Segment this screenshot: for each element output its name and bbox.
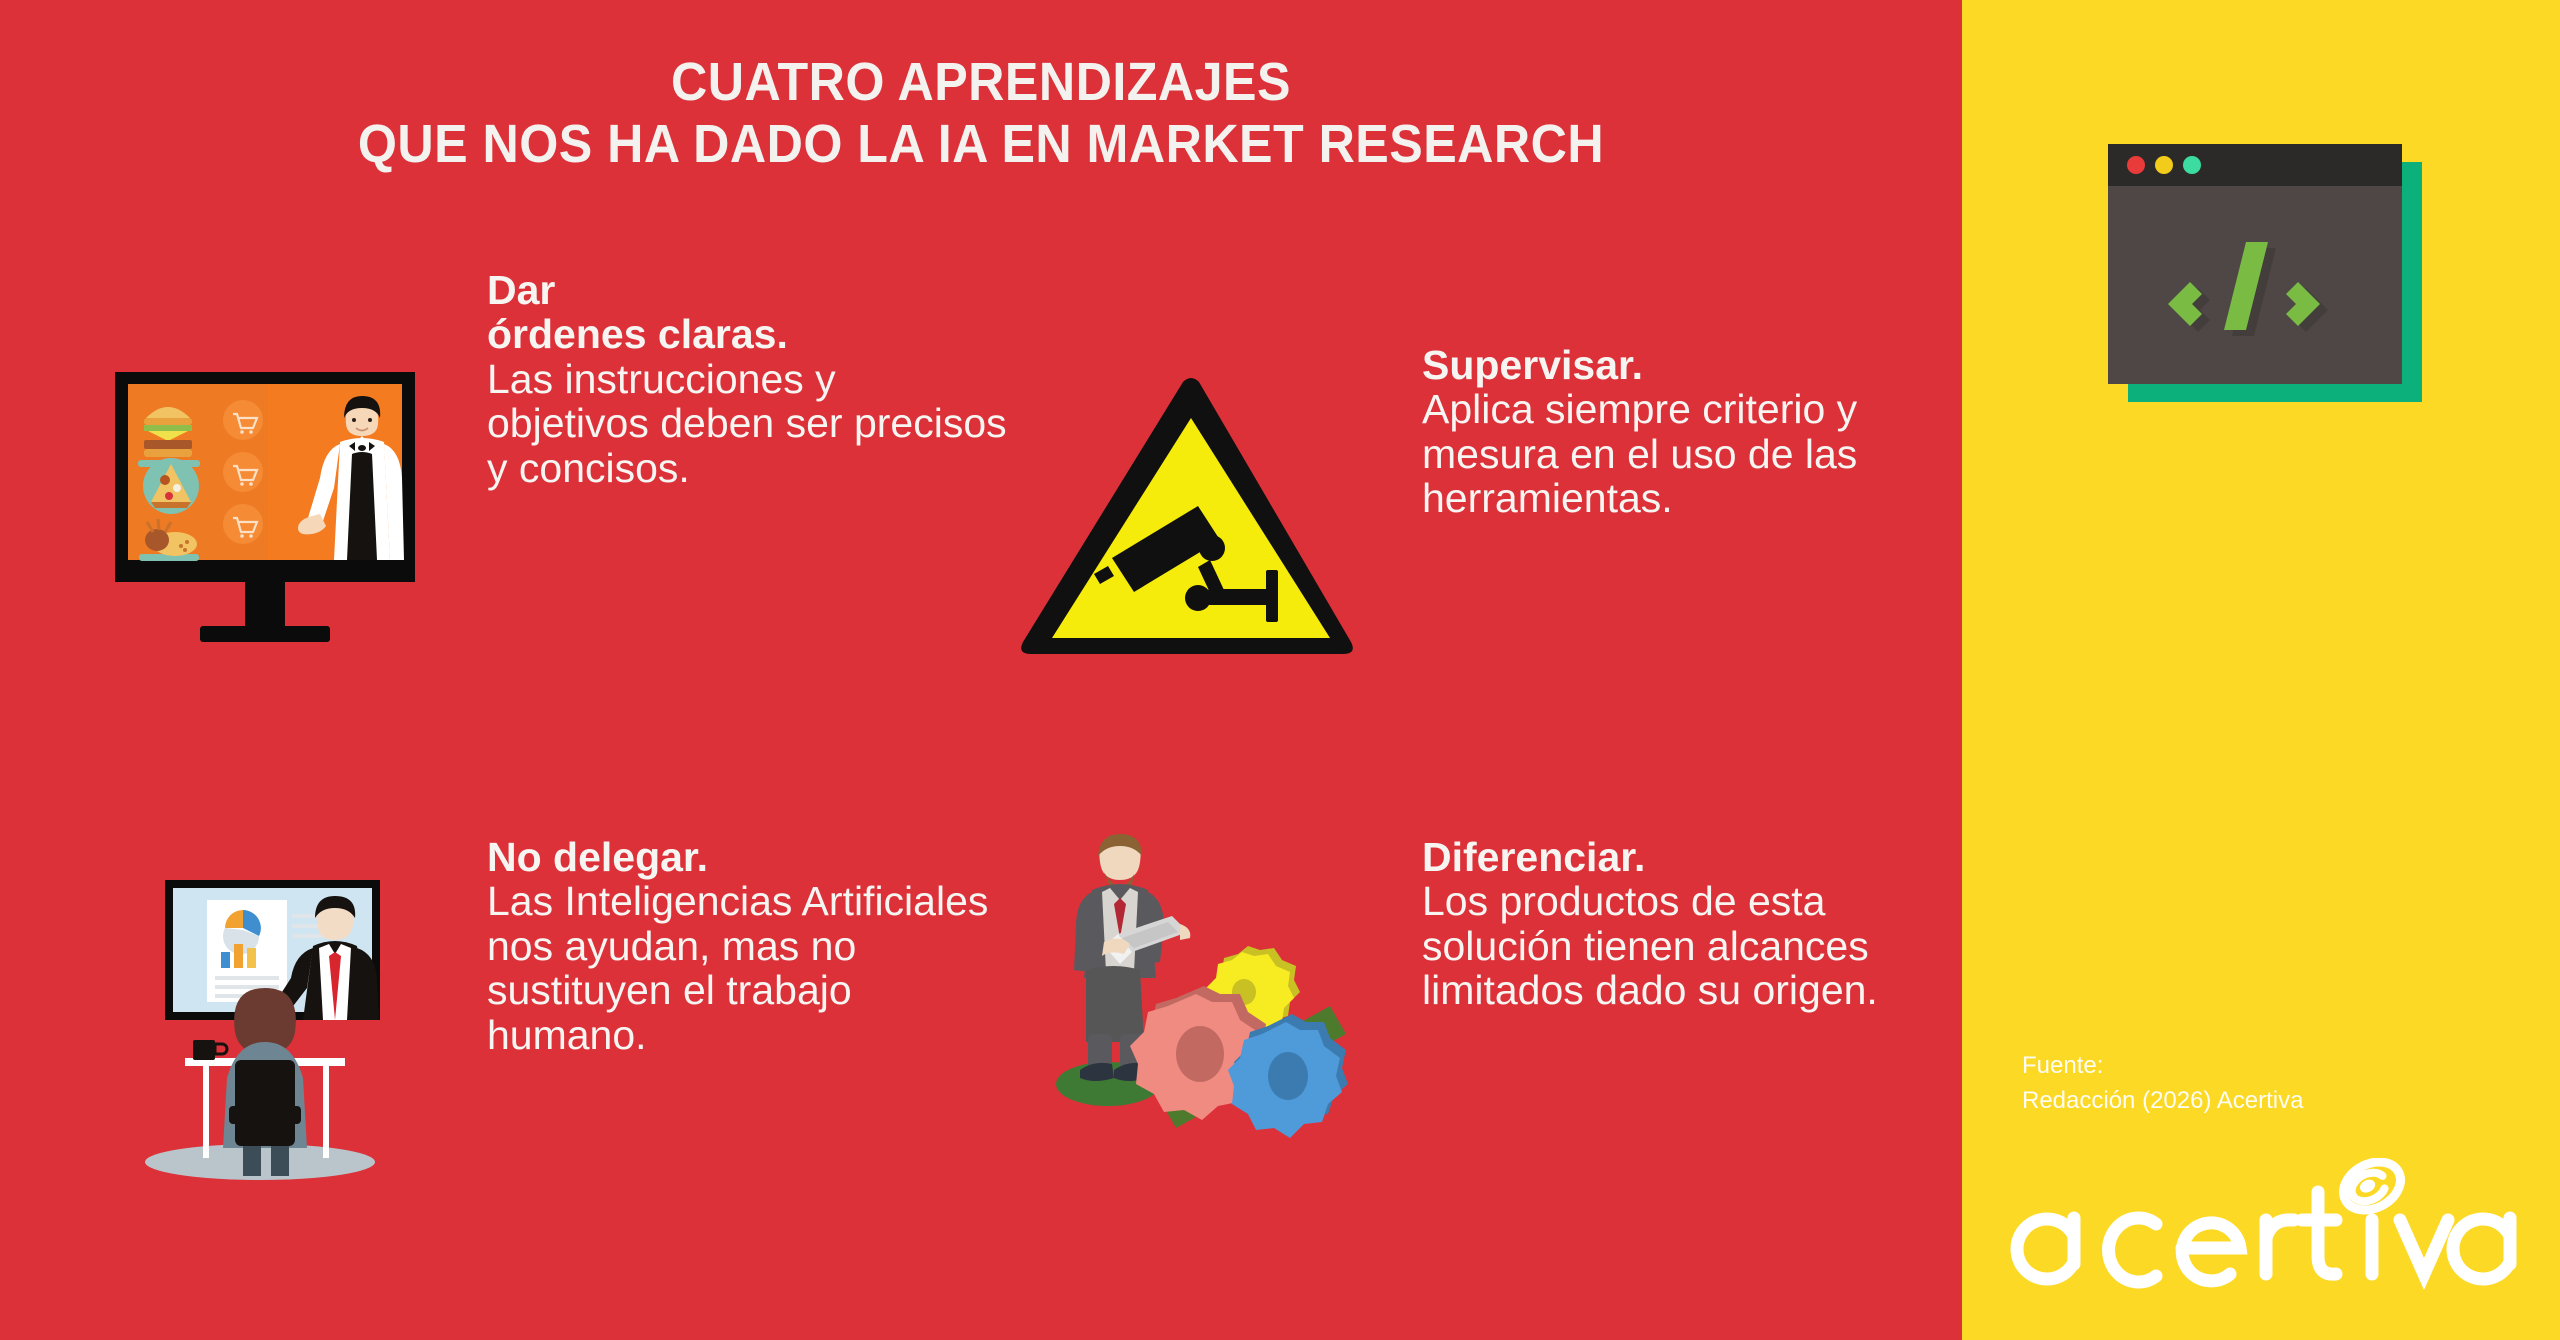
video-presentation-viewer-icon — [95, 862, 435, 1182]
block-heading: Supervisar. — [1422, 343, 1942, 387]
block-heading: Darórdenes claras. — [487, 268, 1007, 357]
acertiva-logo — [2000, 1158, 2540, 1298]
block-heading: No delegar. — [487, 835, 1007, 879]
block-heading: Diferenciar. — [1422, 835, 1942, 879]
page-title: CUATRO APRENDIZAJES QUE NOS HA DADO LA I… — [69, 52, 1894, 175]
monitor-food-ordering-icon — [95, 372, 435, 662]
window-dot-red — [2127, 156, 2145, 174]
learning-block-diferenciar: Diferenciar. Los productos de esta soluc… — [1422, 835, 1942, 1013]
block-body: Aplica siempre criterio y mesura en el u… — [1422, 387, 1942, 520]
source-credit: Fuente: Redacción (2026) Acertiva — [2022, 1049, 2542, 1119]
source-label: Fuente: — [2022, 1049, 2542, 1084]
window-dot-green — [2183, 156, 2201, 174]
isometric-gears-businessman-icon — [1040, 828, 1360, 1158]
warning-cctv-camera-icon — [1020, 370, 1360, 660]
infographic-canvas: CUATRO APRENDIZAJES QUE NOS HA DADO LA I… — [0, 0, 2560, 1340]
learning-block-supervisar: Supervisar. Aplica siempre criterio y me… — [1422, 343, 1942, 521]
window-dot-yellow — [2155, 156, 2173, 174]
block-body: Las instrucciones y objetivos deben ser … — [487, 357, 1007, 490]
code-window-icon — [2094, 140, 2444, 430]
title-line-2: QUE NOS HA DADO LA IA EN MARKET RESEARCH — [69, 114, 1894, 176]
source-value: Redacción (2026) Acertiva — [2022, 1084, 2542, 1119]
swirl-icon — [2335, 1158, 2409, 1220]
learning-block-dar-ordenes-claras: Darórdenes claras. Las instrucciones y o… — [487, 268, 1007, 490]
block-body: Los productos de esta solución tienen al… — [1422, 879, 1942, 1012]
title-line-1: CUATRO APRENDIZAJES — [69, 52, 1894, 114]
learning-block-no-delegar: No delegar. Las Inteligencias Artificial… — [487, 835, 1007, 1057]
block-body: Las Inteligencias Artificiales nos ayuda… — [487, 879, 1007, 1057]
